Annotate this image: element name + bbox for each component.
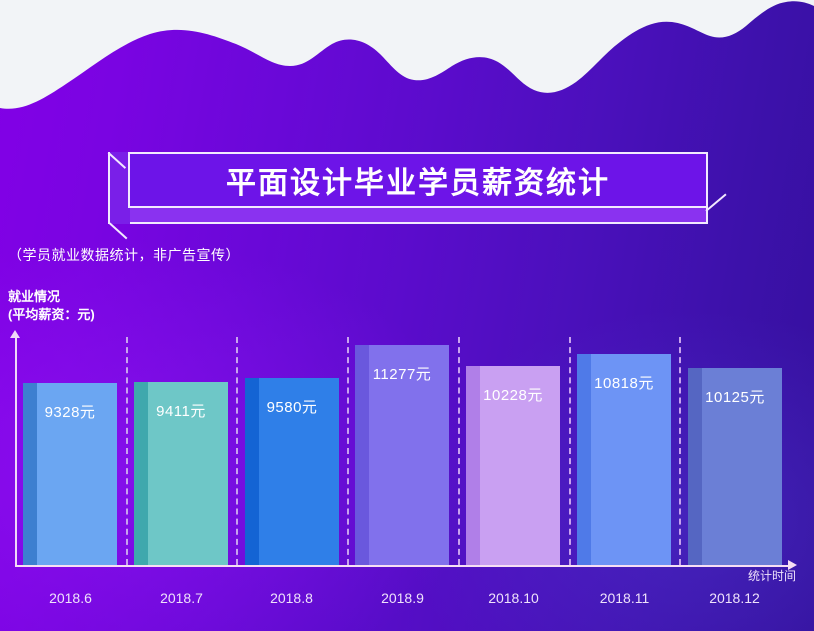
gridline xyxy=(236,337,238,565)
bar[interactable]: 9328元 xyxy=(23,383,117,565)
bar[interactable]: 10125元 xyxy=(688,368,782,565)
bar-value-label: 10228元 xyxy=(466,384,560,405)
bar[interactable]: 9580元 xyxy=(245,378,339,565)
banner-left-cap xyxy=(108,152,130,224)
gridline xyxy=(569,337,571,565)
bar-value-label: 9580元 xyxy=(245,396,339,417)
x-axis-line xyxy=(15,565,790,567)
infographic-canvas: 平面设计毕业学员薪资统计 （学员就业数据统计，非广告宣传） 就业情况 (平均薪资… xyxy=(0,0,814,631)
subtitle-note: （学员就业数据统计，非广告宣传） xyxy=(8,245,240,265)
title-banner: 平面设计毕业学员薪资统计 xyxy=(108,152,708,224)
bar-value-label: 11277元 xyxy=(355,363,449,384)
gridline xyxy=(347,337,349,565)
gridline xyxy=(679,337,681,565)
y-axis-arrow xyxy=(10,330,20,338)
bar[interactable]: 10228元 xyxy=(466,366,560,565)
x-tick-label: 2018.12 xyxy=(679,590,790,606)
page-title: 平面设计毕业学员薪资统计 xyxy=(128,152,708,208)
y-axis-line xyxy=(15,335,17,566)
x-tick-label: 2018.11 xyxy=(569,590,680,606)
x-tick-label: 2018.9 xyxy=(347,590,458,606)
bar[interactable]: 11277元 xyxy=(355,345,449,565)
x-tick-label: 2018.6 xyxy=(15,590,126,606)
bar-value-label: 9328元 xyxy=(23,401,117,422)
y-axis-label-line1: 就业情况 xyxy=(8,288,60,306)
banner-tail-edge xyxy=(706,192,732,224)
x-axis-label: 统计时间 xyxy=(748,567,796,584)
y-axis-label-line2: (平均薪资：元) xyxy=(8,306,95,324)
x-tick-label: 2018.8 xyxy=(236,590,347,606)
bar[interactable]: 9411元 xyxy=(134,382,228,565)
bar[interactable]: 10818元 xyxy=(577,354,671,565)
bar-value-label: 10125元 xyxy=(688,386,782,407)
bar-chart: 就业情况 (平均薪资：元) 9328元9411元9580元11277元10228… xyxy=(0,280,814,631)
banner-bottom-strip xyxy=(128,208,708,224)
gridline xyxy=(126,337,128,565)
bar-value-label: 10818元 xyxy=(577,372,671,393)
gridline xyxy=(458,337,460,565)
x-tick-label: 2018.7 xyxy=(126,590,237,606)
x-tick-label: 2018.10 xyxy=(458,590,569,606)
bar-value-label: 9411元 xyxy=(134,400,228,421)
